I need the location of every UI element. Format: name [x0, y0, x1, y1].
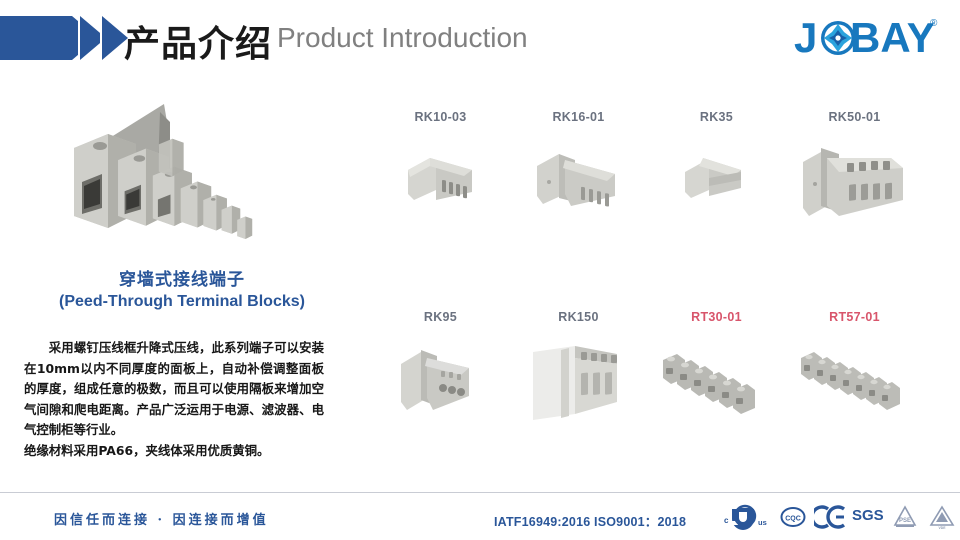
svg-text:J: J — [794, 14, 817, 61]
sgs-mark: SGS — [852, 503, 884, 531]
product-photo-rt30-01 — [644, 336, 789, 456]
product-photo-rk16-01 — [506, 136, 651, 256]
product-label: RK35 — [644, 110, 789, 124]
svg-text:VDE: VDE — [939, 526, 947, 530]
product-label: RK10-03 — [368, 110, 513, 124]
product-photo-rk95 — [368, 336, 513, 456]
hero-product-photo — [52, 82, 342, 267]
svg-text:c: c — [724, 516, 729, 525]
jobay-logo[interactable]: J BAY ® — [794, 12, 944, 64]
product-photo-rt57-01 — [782, 336, 927, 456]
footer-slogan: 因信任而连接 · 因连接而增值 — [54, 509, 269, 528]
product-label: RT30-01 — [644, 310, 789, 324]
svg-text:PSE: PSE — [899, 518, 911, 524]
product-label: RK150 — [506, 310, 651, 324]
product-cell-rk50-01[interactable]: RK50-01 — [782, 110, 927, 270]
product-label: RK16-01 — [506, 110, 651, 124]
cqc-mark: CQC — [780, 503, 806, 531]
product-cell-rt57-01[interactable]: RT57-01 — [782, 310, 927, 470]
product-title: 穿墙式接线端子 (Peed-Through Terminal Blocks) — [12, 270, 352, 312]
product-cell-rk16-01[interactable]: RK16-01 — [506, 110, 651, 270]
product-description: 采用螺钉压线框升降式压线，此系列端子可以安装在10mm以内不同厚度的面板上，自动… — [24, 338, 324, 461]
product-cell-rk150[interactable]: RK150 — [506, 310, 651, 470]
product-photo-rk10-03 — [368, 136, 513, 256]
product-photo-rk50-01 — [782, 136, 927, 256]
product-cell-rt30-01[interactable]: RT30-01 — [644, 310, 789, 470]
product-title-en: (Peed-Through Terminal Blocks) — [12, 292, 352, 312]
product-grid: RK10-03 RK16-01 — [368, 110, 948, 440]
ce-mark — [814, 503, 848, 531]
page-title-cn: 产品介绍 — [124, 15, 272, 67]
trademark-symbol: ® — [930, 18, 938, 29]
product-cell-rk95[interactable]: RK95 — [368, 310, 513, 470]
footer-divider — [0, 492, 960, 493]
page-title-en: Product Introduction — [277, 22, 528, 54]
product-title-cn: 穿墙式接线端子 — [12, 270, 352, 291]
product-photo-rk35 — [644, 136, 789, 256]
footer-certification-marks: c us CQC SGS — [724, 503, 954, 533]
product-cell-rk10-03[interactable]: RK10-03 — [368, 110, 513, 270]
slide-root: 产品介绍 Product Introduction J BAY ® — [0, 0, 960, 540]
jobay-star-o-icon — [821, 21, 855, 55]
svg-text:us: us — [758, 518, 767, 527]
product-cell-rk35[interactable]: RK35 — [644, 110, 789, 270]
ul-listed-mark: c us — [724, 503, 772, 531]
svg-text:CQC: CQC — [785, 516, 801, 523]
footer-certifications-text: IATF16949:2016 ISO9001：2018 — [494, 511, 686, 530]
product-label: RK95 — [368, 310, 513, 324]
vde-triangle-mark: VDE — [928, 503, 956, 531]
product-label: RT57-01 — [782, 310, 927, 324]
slide-header: 产品介绍 Product Introduction J BAY ® — [0, 0, 960, 78]
description-paragraph-2: 绝缘材料采用PA66，夹线体采用优质黄铜。 — [24, 441, 324, 462]
product-label: RK50-01 — [782, 110, 927, 124]
pse-mark: PSE — [892, 503, 918, 531]
svg-text:BAY: BAY — [850, 14, 935, 61]
description-paragraph-1: 采用螺钉压线框升降式压线，此系列端子可以安装在10mm以内不同厚度的面板上，自动… — [24, 338, 324, 441]
product-photo-rk150 — [506, 336, 651, 456]
